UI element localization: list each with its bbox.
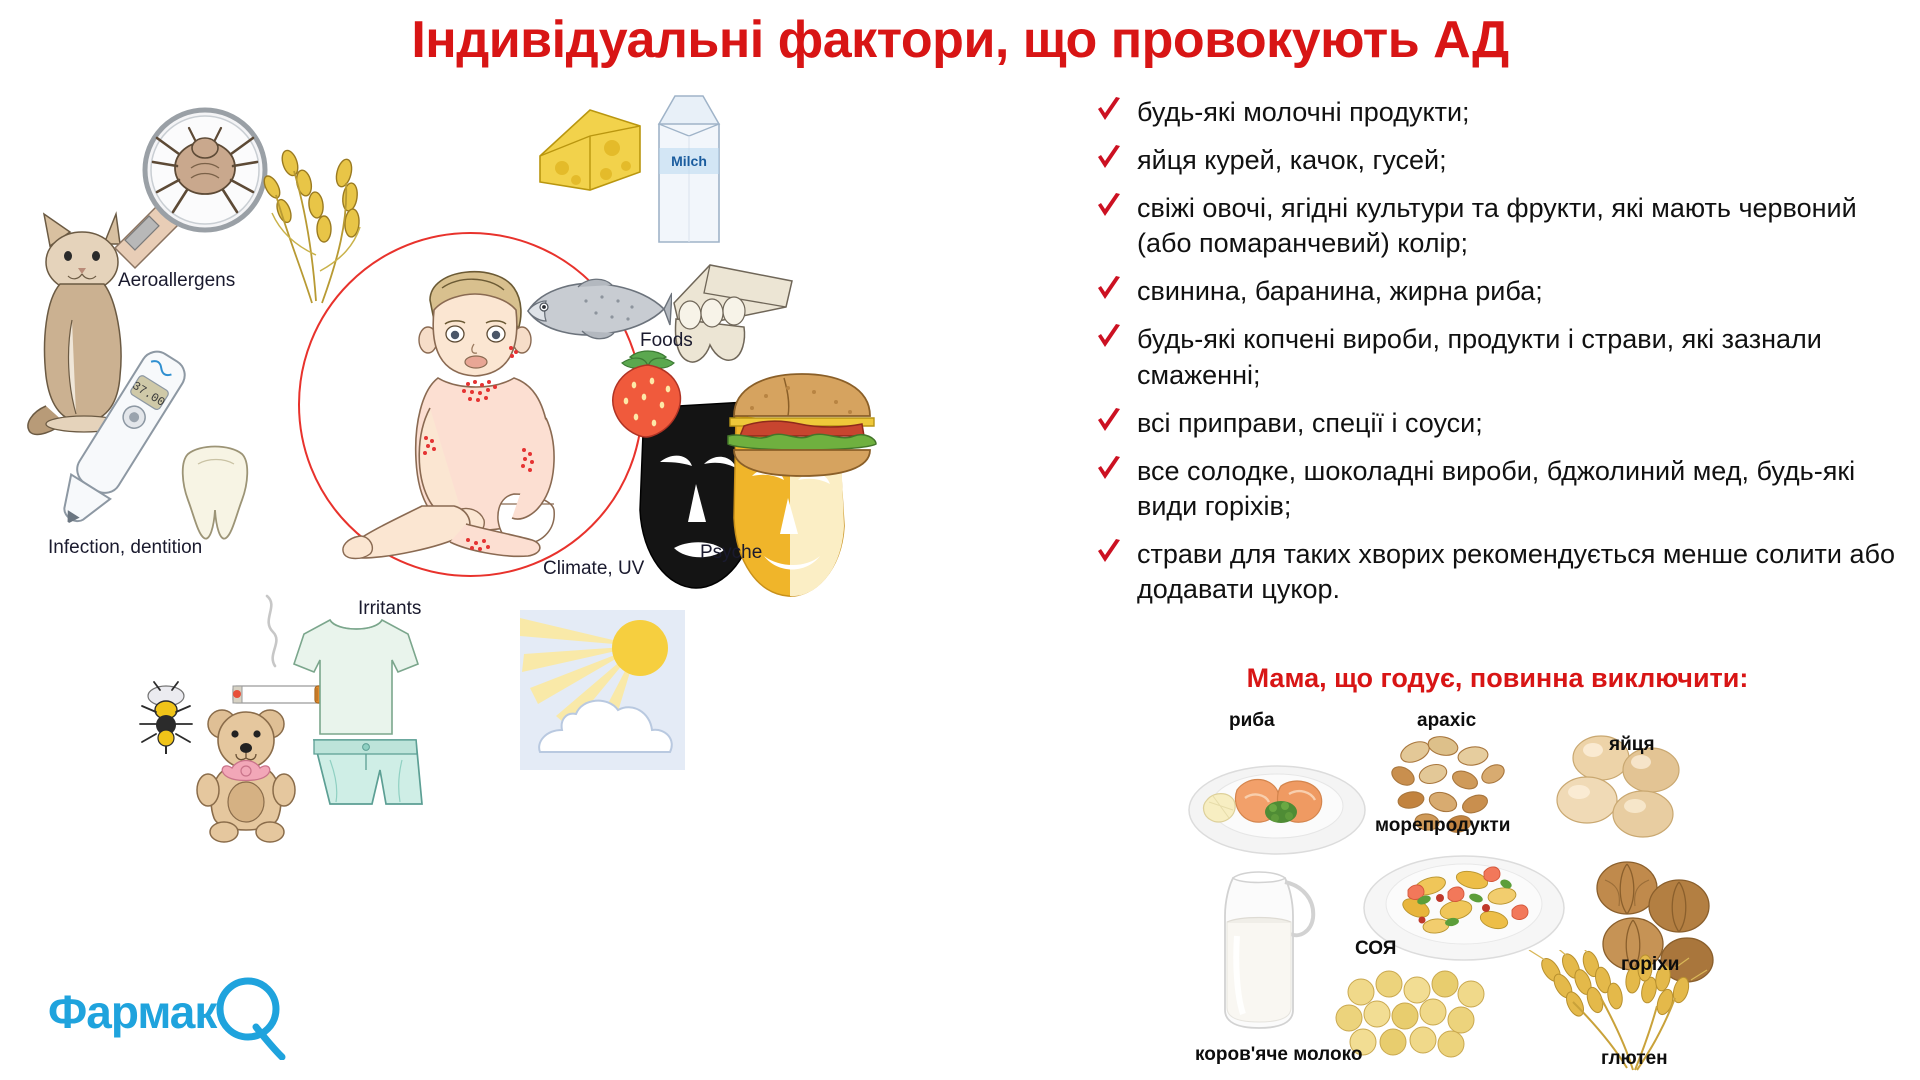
slide-root: Індивідуальні фактори, що провокують АД	[0, 0, 1920, 1080]
list-item: все солодке, шоколадні вироби, бджолиний…	[1095, 454, 1900, 524]
triggers-diagram: 37.00	[0, 80, 1080, 1000]
list-item-text: свинина, баранина, жирна риба;	[1137, 276, 1543, 306]
list-item: будь-які копчені вироби, продукти і стра…	[1095, 322, 1900, 392]
cheese-icon	[530, 100, 650, 200]
milk-jug-photo	[1185, 860, 1345, 1035]
diagram-label-foods: Foods	[640, 330, 693, 352]
food-label-eggs: яйця	[1609, 734, 1655, 756]
farmak-logo: Фармак	[48, 975, 298, 1060]
list-item-text: все солодке, шоколадні вироби, бджолиний…	[1137, 456, 1855, 521]
list-item-text: будь-які молочні продукти;	[1137, 97, 1470, 127]
check-icon	[1095, 455, 1123, 485]
page-title: Індивідуальні фактори, що провокують АД	[0, 10, 1920, 70]
list-item-text: свіжі овочі, ягідні культури та фрукти, …	[1137, 193, 1857, 258]
list-item: страви для таких хворих рекомендується м…	[1095, 537, 1900, 607]
food-label-soy: СОЯ	[1355, 938, 1396, 960]
food-label-cow-milk: коров'яче молоко	[1195, 1044, 1362, 1066]
climate-uv-icon	[520, 610, 685, 770]
list-item: свинина, баранина, жирна риба;	[1095, 274, 1900, 309]
diagram-label-psyche: Psyche	[700, 542, 762, 564]
list-item-text: всі приправи, спеції і соуси;	[1137, 408, 1483, 438]
list-item: всі приправи, спеції і соуси;	[1095, 406, 1900, 441]
list-item-text: яйця курей, качок, гусей;	[1137, 145, 1447, 175]
check-icon	[1095, 323, 1123, 353]
mother-section-heading: Мама, що годує, повинна виключити:	[1095, 663, 1900, 694]
check-icon	[1095, 538, 1123, 568]
food-label-nuts: горіхи	[1621, 954, 1679, 976]
diagram-label-aeroallergens: Aeroallergens	[118, 270, 235, 292]
food-label-peanuts: арахіс	[1417, 710, 1476, 732]
check-icon	[1095, 96, 1123, 126]
diagram-label-irritants: Irritants	[358, 598, 421, 620]
list-item: свіжі овочі, ягідні культури та фрукти, …	[1095, 191, 1900, 261]
logo-mark-icon	[206, 975, 298, 1060]
list-item: яйця курей, качок, гусей;	[1095, 143, 1900, 178]
diagram-label-climate-uv: Climate, UV	[543, 558, 644, 580]
mother-excluded-foods-panel: риба арахіс яйця морепродукти горіхи СОЯ…	[1185, 710, 1770, 1070]
fish-plate-photo	[1185, 738, 1370, 858]
trigger-food-list: будь-які молочні продукти; яйця курей, к…	[1095, 95, 1900, 620]
logo-text: Фармак	[48, 985, 216, 1039]
milk-carton-icon: Milch	[645, 90, 735, 250]
dust-mite-magnifier-icon	[95, 98, 275, 278]
list-item-text: страви для таких хворих рекомендується м…	[1137, 539, 1895, 604]
milk-carton-label: Milch	[671, 153, 707, 169]
tooth-icon	[170, 438, 260, 553]
food-label-fish: риба	[1229, 710, 1275, 732]
food-label-gluten: глютен	[1601, 1048, 1668, 1070]
diagram-label-infection-dentition: Infection, dentition	[48, 537, 202, 559]
food-label-seafood: морепродукти	[1375, 815, 1510, 837]
check-icon	[1095, 144, 1123, 174]
clothing-irritants-icon	[268, 608, 478, 848]
check-icon	[1095, 407, 1123, 437]
list-item-text: будь-які копчені вироби, продукти і стра…	[1137, 324, 1822, 389]
list-item: будь-які молочні продукти;	[1095, 95, 1900, 130]
burger-icon	[722, 370, 882, 480]
check-icon	[1095, 192, 1123, 222]
pollen-grass-icon	[250, 135, 380, 315]
check-icon	[1095, 275, 1123, 305]
